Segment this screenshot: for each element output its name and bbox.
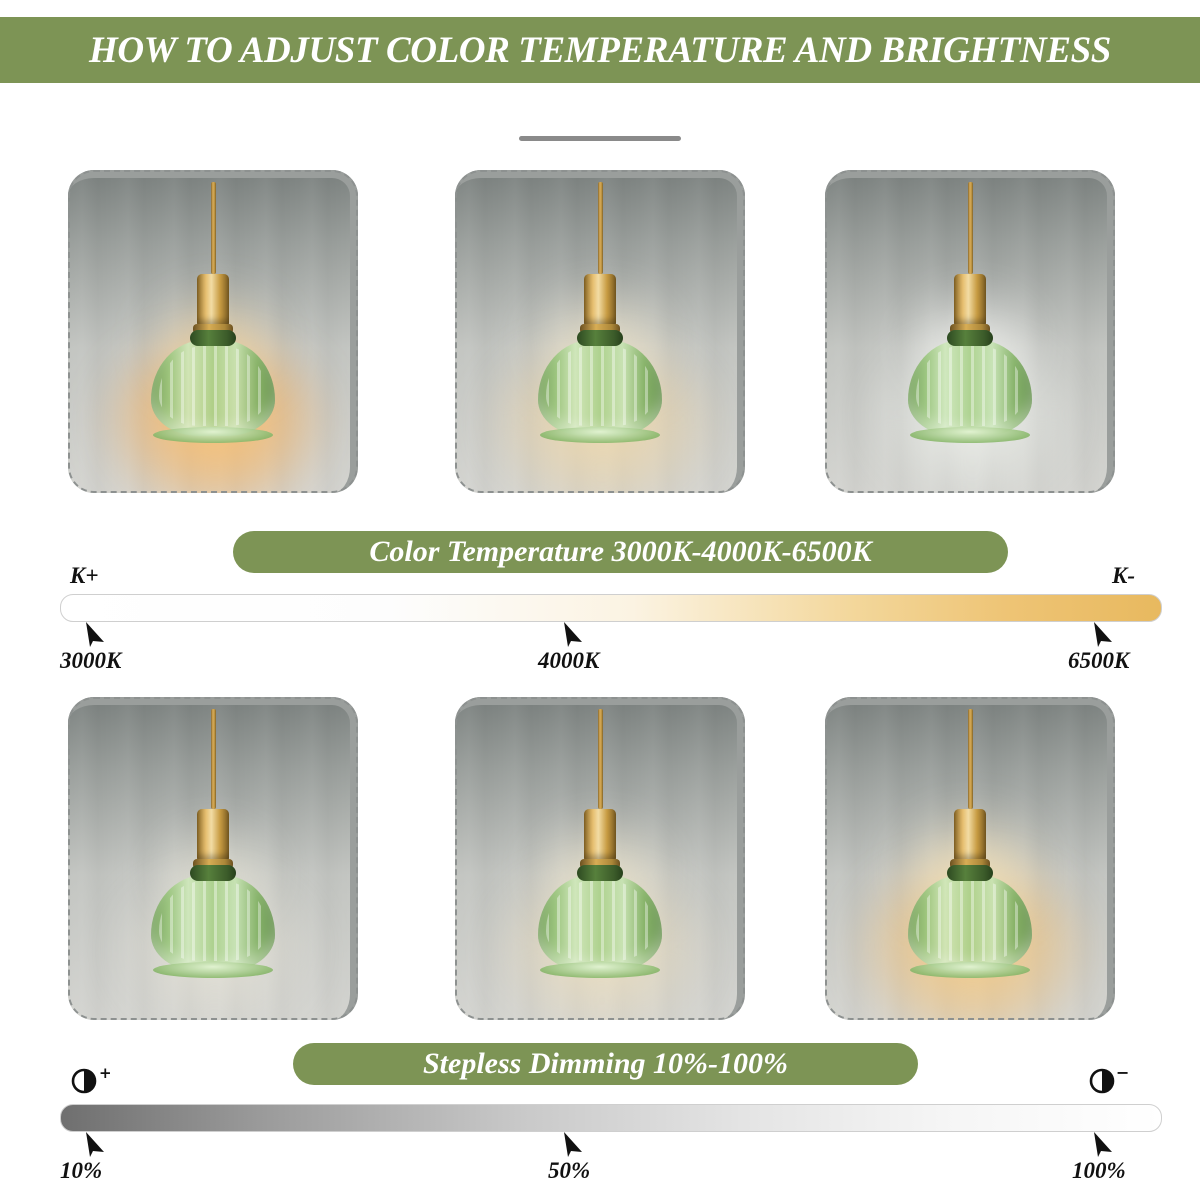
lamp-glass-shade — [151, 340, 275, 436]
lamp-shade-collar — [947, 330, 993, 346]
lamp-socket — [584, 274, 616, 326]
color-temperature-pill-label: Color Temperature 3000K-4000K-6500K — [369, 535, 871, 569]
photo-card-100-percent — [825, 697, 1115, 1020]
brightness-slider-track[interactable] — [60, 1104, 1162, 1132]
page-header-bar: HOW TO ADJUST COLOR TEMPERATURE AND BRIG… — [0, 17, 1200, 83]
lamp-cord — [598, 182, 603, 274]
lamp-glass-shade — [538, 875, 662, 971]
lamp-socket — [197, 809, 229, 861]
stepless-dimming-pill: Stepless Dimming 10%-100% — [293, 1043, 918, 1085]
photo-frame — [825, 697, 1115, 1020]
k-plus-label: K+ — [70, 563, 98, 589]
lamp-cord — [968, 182, 973, 274]
pendant-lamp-50-percent — [538, 709, 662, 971]
brightness-plus-icon: + — [70, 1066, 110, 1096]
brightness-marker-10[interactable] — [84, 1130, 108, 1158]
lamp-glass-shade — [538, 340, 662, 436]
lamp-socket — [197, 274, 229, 326]
lamp-cord — [598, 709, 603, 809]
svg-text:−: − — [1116, 1066, 1128, 1082]
lamp-cord — [211, 182, 216, 274]
color-temperature-value-3000k: 3000K — [60, 648, 121, 674]
page-title: HOW TO ADJUST COLOR TEMPERATURE AND BRIG… — [89, 29, 1111, 72]
brightness-value-50: 50% — [548, 1158, 590, 1184]
k-minus-label: K- — [1112, 563, 1135, 589]
brightness-marker-100[interactable] — [1092, 1130, 1116, 1158]
lamp-glass-shade — [151, 875, 275, 971]
pendant-lamp-4000k — [538, 182, 662, 436]
photo-frame — [68, 697, 358, 1020]
photo-card-3000k — [68, 170, 358, 493]
stepless-dimming-pill-label: Stepless Dimming 10%-100% — [423, 1047, 788, 1081]
photo-frame — [825, 170, 1115, 493]
lamp-socket — [954, 274, 986, 326]
color-temperature-value-4000k: 4000K — [538, 648, 599, 674]
lamp-cord — [968, 709, 973, 809]
brightness-minus-icon: − — [1088, 1066, 1128, 1096]
brightness-value-100: 100% — [1072, 1158, 1126, 1184]
photo-frame — [455, 170, 745, 493]
color-temperature-pill: Color Temperature 3000K-4000K-6500K — [233, 531, 1008, 573]
photo-frame — [68, 170, 358, 493]
header-divider-rule — [519, 136, 681, 141]
lamp-glass-shade — [908, 875, 1032, 971]
svg-text:+: + — [99, 1066, 110, 1082]
brightness-marker-50[interactable] — [562, 1130, 586, 1158]
color-temperature-slider-track[interactable] — [60, 594, 1162, 622]
lamp-shade-collar — [577, 330, 623, 346]
brightness-value-10: 10% — [60, 1158, 102, 1184]
lamp-glass-shade — [908, 340, 1032, 436]
photo-card-6500k — [825, 170, 1115, 493]
pendant-lamp-3000k — [151, 182, 275, 436]
color-temperature-value-6500k: 6500K — [1068, 648, 1129, 674]
lamp-shade-collar — [190, 330, 236, 346]
lamp-socket — [584, 809, 616, 861]
lamp-cord — [211, 709, 216, 809]
lamp-socket — [954, 809, 986, 861]
pendant-lamp-10-percent — [151, 709, 275, 971]
lamp-shade-collar — [577, 865, 623, 881]
photo-card-10-percent — [68, 697, 358, 1020]
color-temperature-marker-3000k[interactable] — [84, 620, 108, 648]
lamp-shade-collar — [947, 865, 993, 881]
photo-card-4000k — [455, 170, 745, 493]
color-temperature-marker-4000k[interactable] — [562, 620, 586, 648]
color-temperature-marker-6500k[interactable] — [1092, 620, 1116, 648]
pendant-lamp-100-percent — [908, 709, 1032, 971]
photo-frame — [455, 697, 745, 1020]
photo-card-50-percent — [455, 697, 745, 1020]
lamp-shade-collar — [190, 865, 236, 881]
pendant-lamp-6500k — [908, 182, 1032, 436]
